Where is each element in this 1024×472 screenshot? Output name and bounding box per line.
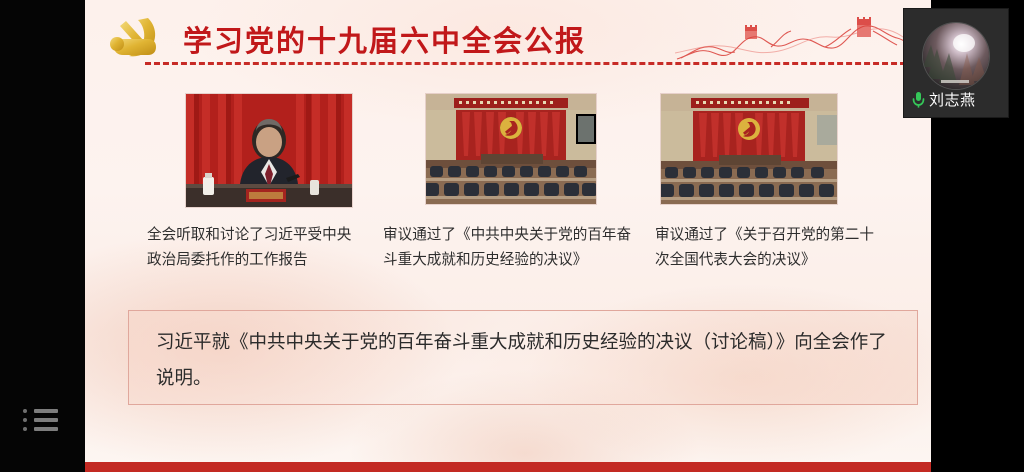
list-view-icon[interactable]	[20, 406, 60, 436]
photo-caption: 全会听取和讨论了习近平受中央政治局委托作的工作报告	[147, 222, 353, 272]
left-sidebar	[0, 0, 85, 472]
list-bullet	[23, 418, 27, 422]
title-divider	[145, 62, 915, 65]
photo-caption: 审议通过了《关于召开党的第二十次全国代表大会的决议》	[655, 222, 880, 272]
screen-share-view: 学习党的十九届六中全会公报	[0, 0, 1024, 472]
presentation-slide: 学习党的十九届六中全会公报	[85, 0, 931, 472]
photo-speaker-at-podium	[185, 93, 353, 208]
slide-header: 学习党的十九届六中全会公报	[85, 0, 931, 78]
photo-plenary-hall-2	[660, 93, 838, 205]
participant-name: 刘志燕	[929, 89, 976, 110]
slide-bottom-bar	[85, 462, 931, 472]
great-wall-illustration	[675, 5, 915, 63]
photo-caption: 审议通过了《中共中央关于党的百年奋斗重大成就和历史经验的决议》	[383, 222, 636, 272]
list-line	[34, 427, 58, 431]
avatar	[923, 23, 989, 89]
list-bullet	[23, 409, 27, 413]
list-bullet	[23, 427, 27, 431]
participant-name-row: 刘志燕	[911, 89, 976, 110]
slide-title: 学习党的十九届六中全会公报	[183, 18, 586, 60]
participant-video-tile[interactable]: 刘志燕	[903, 8, 1009, 118]
highlight-text-box: 习近平就《中共中央关于党的百年奋斗重大成就和历史经验的决议（讨论稿）》向全会作了…	[128, 310, 918, 405]
list-line	[34, 418, 58, 422]
microphone-icon	[911, 91, 926, 108]
highlight-text: 习近平就《中共中央关于党的百年奋斗重大成就和历史经验的决议（讨论稿）》向全会作了…	[156, 325, 894, 397]
hammer-and-sickle-icon	[104, 12, 168, 68]
list-line	[34, 409, 58, 413]
photo-plenary-hall-1	[425, 93, 597, 205]
